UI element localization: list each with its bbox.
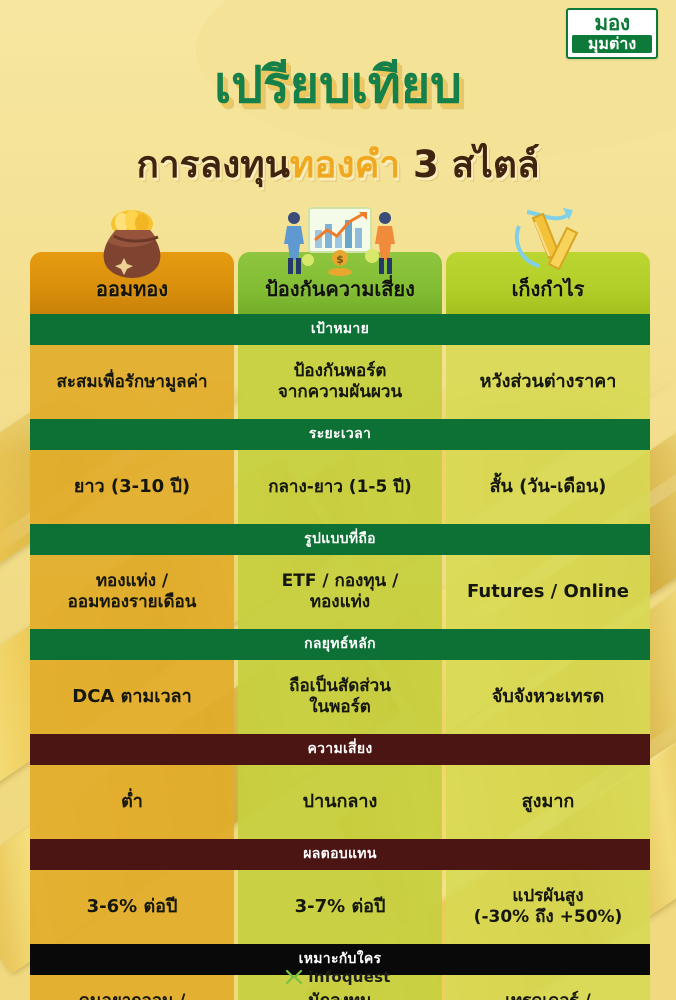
- table-cell: 3-7% ต่อปี: [238, 870, 442, 944]
- table-cell: 3-6% ต่อปี: [30, 870, 234, 944]
- gold-bars-arrow-icon: [446, 206, 650, 280]
- footer-brand-label: infoquest: [308, 968, 390, 986]
- table-cell: สั้น (วัน-เดือน): [446, 450, 650, 524]
- table-cell: ป้องกันพอร์ตจากความผันผวน: [238, 345, 442, 419]
- table-cell: สูงมาก: [446, 765, 650, 839]
- table-row: ทองแท่ง /ออมทองรายเดือนETF / กองทุน /ทอง…: [30, 555, 650, 629]
- page-title-line1: เปรียบเทียบ: [0, 46, 676, 125]
- section-header-bar: กลยุทธ์หลัก: [30, 629, 650, 660]
- brand-logo-line1: มอง: [572, 13, 652, 33]
- table-cell: ETF / กองทุน /ทองแท่ง: [238, 555, 442, 629]
- table-cell: DCA ตามเวลา: [30, 660, 234, 734]
- table-row: DCA ตามเวลาถือเป็นสัดส่วนในพอร์ตจับจังหว…: [30, 660, 650, 734]
- infographic-poster: มอง มุมต่าง เปรียบเทียบ การลงทุนทองคำ 3 …: [0, 0, 676, 1000]
- footer-credit: infoquest: [0, 968, 676, 986]
- page-title-line2-part1: การลงทุน: [136, 143, 289, 186]
- table-cell: สะสมเพื่อรักษามูลค่า: [30, 345, 234, 419]
- page-title-line2: การลงทุนทองคำ 3 สไตล์: [0, 135, 676, 194]
- comparison-table: เป้าหมายสะสมเพื่อรักษามูลค่าป้องกันพอร์ต…: [30, 314, 650, 1000]
- infoquest-x-mark-icon: [285, 968, 303, 986]
- section-header-bar: ความเสี่ยง: [30, 734, 650, 765]
- table-cell: หวังส่วนต่างราคา: [446, 345, 650, 419]
- table-cell: ทองแท่ง /ออมทองรายเดือน: [30, 555, 234, 629]
- column-header-speculation-label: เก็งกำไร: [512, 273, 585, 305]
- column-header-hedging-label: ป้องกันความเสี่ยง: [265, 273, 415, 305]
- page-title-line2-gold: ทองคำ: [290, 143, 400, 186]
- page-title-line2-part2: 3 สไตล์: [400, 143, 539, 186]
- table-cell: จับจังหวะเทรด: [446, 660, 650, 734]
- table-row: ยาว (3-10 ปี)กลาง-ยาว (1-5 ปี)สั้น (วัน-…: [30, 450, 650, 524]
- table-row: สะสมเพื่อรักษามูลค่าป้องกันพอร์ตจากความผ…: [30, 345, 650, 419]
- section-header-bar: ระยะเวลา: [30, 419, 650, 450]
- section-header-bar: เป้าหมาย: [30, 314, 650, 345]
- section-header-bar: รูปแบบที่ถือ: [30, 524, 650, 555]
- table-cell: ถือเป็นสัดส่วนในพอร์ต: [238, 660, 442, 734]
- column-headers: ออมทอง: [30, 252, 650, 314]
- column-header-speculation[interactable]: เก็งกำไร: [446, 252, 650, 314]
- chart-analysis-people-icon: $: [238, 206, 442, 280]
- table-cell: ยาว (3-10 ปี): [30, 450, 234, 524]
- table-cell: Futures / Online: [446, 555, 650, 629]
- column-header-hedging[interactable]: $ ป้องกันความเสี่ยง: [238, 252, 442, 314]
- table-cell: ปานกลาง: [238, 765, 442, 839]
- table-row: ต่ำปานกลางสูงมาก: [30, 765, 650, 839]
- svg-text:$: $: [336, 253, 344, 266]
- section-header-bar: ผลตอบแทน: [30, 839, 650, 870]
- table-cell: กลาง-ยาว (1-5 ปี): [238, 450, 442, 524]
- table-row: 3-6% ต่อปี3-7% ต่อปีแปรผันสูง(-30% ถึง +…: [30, 870, 650, 944]
- column-header-saving-label: ออมทอง: [96, 273, 168, 305]
- column-header-saving[interactable]: ออมทอง: [30, 252, 234, 314]
- gold-money-bag-icon: [30, 206, 234, 280]
- table-cell: แปรผันสูง(-30% ถึง +50%): [446, 870, 650, 944]
- table-cell: ต่ำ: [30, 765, 234, 839]
